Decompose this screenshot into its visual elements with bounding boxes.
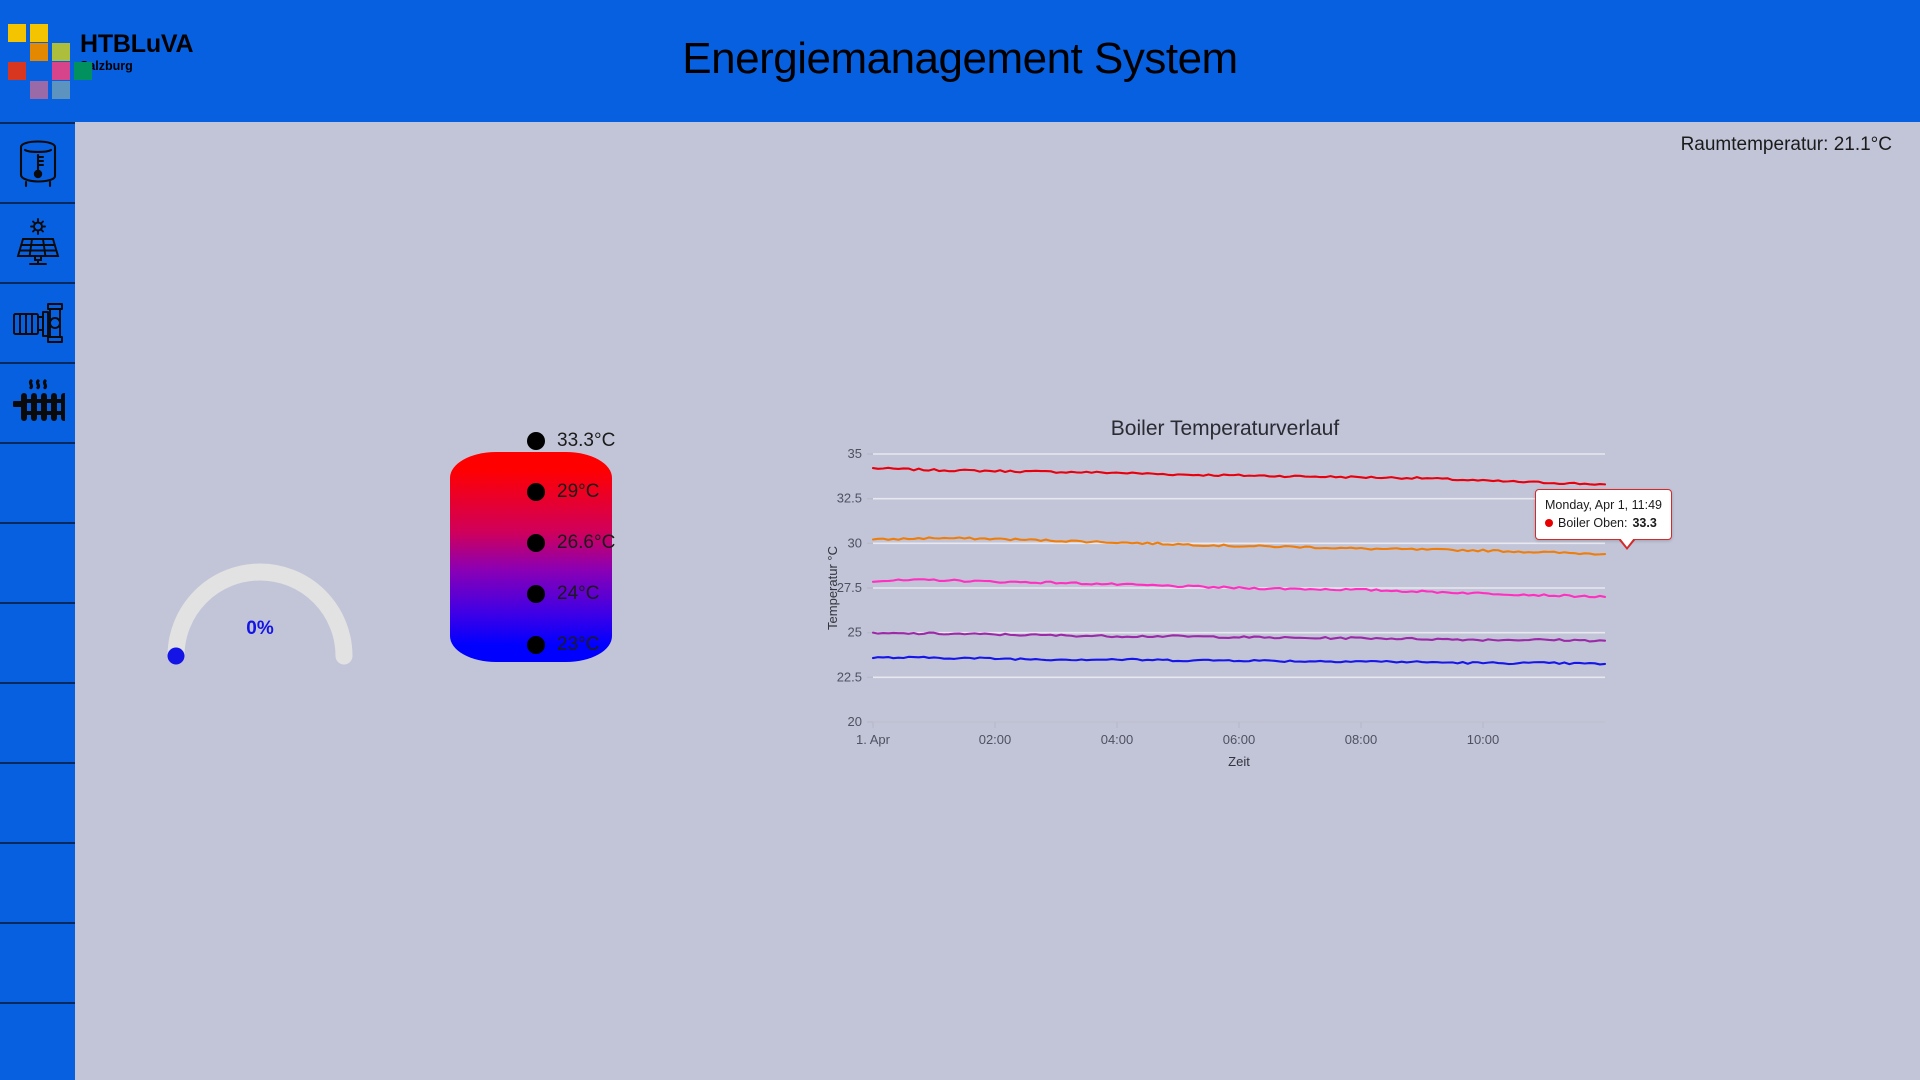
sensor-dot-icon — [527, 483, 545, 501]
chart-ytick-label: 32.5 — [837, 491, 862, 506]
chart-series-4[interactable] — [873, 657, 1605, 665]
tooltip-series-name: Boiler Oben: — [1558, 514, 1627, 532]
room-temperature-readout: Raumtemperatur: 21.1°C — [1681, 134, 1892, 156]
chart-series-3[interactable] — [873, 633, 1605, 642]
sidebar-item-boiler[interactable] — [0, 124, 75, 204]
sidebar-item-radiator[interactable] — [0, 364, 75, 444]
sensor-temperature-label: 24°C — [557, 583, 599, 605]
radiator-icon — [11, 377, 65, 429]
boiler-sensor-5[interactable]: 23°C — [527, 634, 599, 656]
chart-ytick-label: 25 — [848, 625, 862, 640]
tooltip-series-value: 33.3 — [1632, 514, 1656, 532]
sidebar-nav — [0, 122, 75, 1080]
sidebar-item-empty-3[interactable] — [0, 604, 75, 684]
sidebar-item-empty-2[interactable] — [0, 524, 75, 604]
chart-xtick-label: 02:00 — [979, 732, 1012, 747]
main-content: Raumtemperatur: 21.1°C 0% 33.3°C 29°C 26… — [75, 122, 1920, 1080]
chart-ytick-label: 22.5 — [837, 669, 862, 684]
chart-yaxis-title: Temperatur °C — [825, 546, 840, 630]
chart-title: Boiler Temperaturverlauf — [815, 417, 1635, 441]
sidebar-item-empty-7[interactable] — [0, 924, 75, 1004]
solar-panel-icon — [14, 218, 62, 268]
chart-xtick-label: 1. Apr — [856, 732, 891, 747]
boiler-temperature-chart[interactable]: Boiler Temperaturverlauf 2022.52527.5303… — [815, 322, 1635, 822]
chart-xtick-label: 04:00 — [1101, 732, 1134, 747]
sidebar-item-empty-5[interactable] — [0, 764, 75, 844]
tooltip-series-dot-icon — [1545, 519, 1553, 527]
chart-ytick-label: 20 — [848, 714, 862, 729]
boiler-sensor-4[interactable]: 24°C — [527, 583, 599, 605]
sensor-temperature-label: 29°C — [557, 481, 599, 503]
gauge-value-label: 0% — [160, 618, 360, 640]
sensor-dot-icon — [527, 432, 545, 450]
boiler-sensor-3[interactable]: 26.6°C — [527, 532, 615, 554]
sensor-dot-icon — [527, 636, 545, 654]
boiler-tank-icon — [17, 138, 59, 188]
sidebar-item-empty-4[interactable] — [0, 684, 75, 764]
chart-ytick-label: 30 — [848, 535, 862, 550]
chart-plot-svg[interactable]: 2022.52527.53032.5351. Apr02:0004:0006:0… — [815, 322, 1635, 822]
sidebar-item-empty-1[interactable] — [0, 444, 75, 524]
app-header: HTBLuVA Salzburg Energiemanagement Syste… — [0, 0, 1920, 122]
sensor-temperature-label: 26.6°C — [557, 532, 615, 554]
page-title: Energiemanagement System — [0, 34, 1920, 84]
sensor-dot-icon — [527, 534, 545, 552]
sidebar-item-empty-8[interactable] — [0, 1004, 75, 1080]
chart-ytick-label: 27.5 — [837, 580, 862, 595]
pump-motor-icon — [12, 298, 64, 348]
tooltip-timestamp: Monday, Apr 1, 11:49 — [1545, 496, 1662, 514]
gauge-track-arc — [176, 572, 344, 656]
sensor-dot-icon — [527, 585, 545, 603]
chart-series-1[interactable] — [873, 537, 1605, 554]
chart-xtick-label: 10:00 — [1467, 732, 1500, 747]
application-root: HTBLuVA Salzburg Energiemanagement Syste… — [0, 0, 1920, 1080]
chart-xaxis-title: Zeit — [1228, 754, 1250, 769]
chart-xtick-label: 06:00 — [1223, 732, 1256, 747]
sensor-temperature-label: 23°C — [557, 634, 599, 656]
sidebar-item-solar[interactable] — [0, 204, 75, 284]
sensor-temperature-label: 33.3°C — [557, 430, 615, 452]
chart-tooltip: Monday, Apr 1, 11:49 Boiler Oben: 33.3 — [1535, 489, 1672, 540]
chart-xtick-label: 08:00 — [1345, 732, 1378, 747]
sidebar-item-pump[interactable] — [0, 284, 75, 364]
chart-ytick-label: 35 — [848, 446, 862, 461]
pump-power-gauge[interactable]: 0% — [160, 552, 360, 672]
boiler-tank-widget: 33.3°C 29°C 26.6°C 24°C 23°C — [375, 332, 695, 732]
tooltip-series-row: Boiler Oben: 33.3 — [1545, 514, 1662, 532]
sidebar-item-empty-6[interactable] — [0, 844, 75, 924]
chart-series-0[interactable] — [873, 468, 1605, 485]
boiler-sensor-2[interactable]: 29°C — [527, 481, 599, 503]
boiler-sensor-1[interactable]: 33.3°C — [527, 430, 615, 452]
